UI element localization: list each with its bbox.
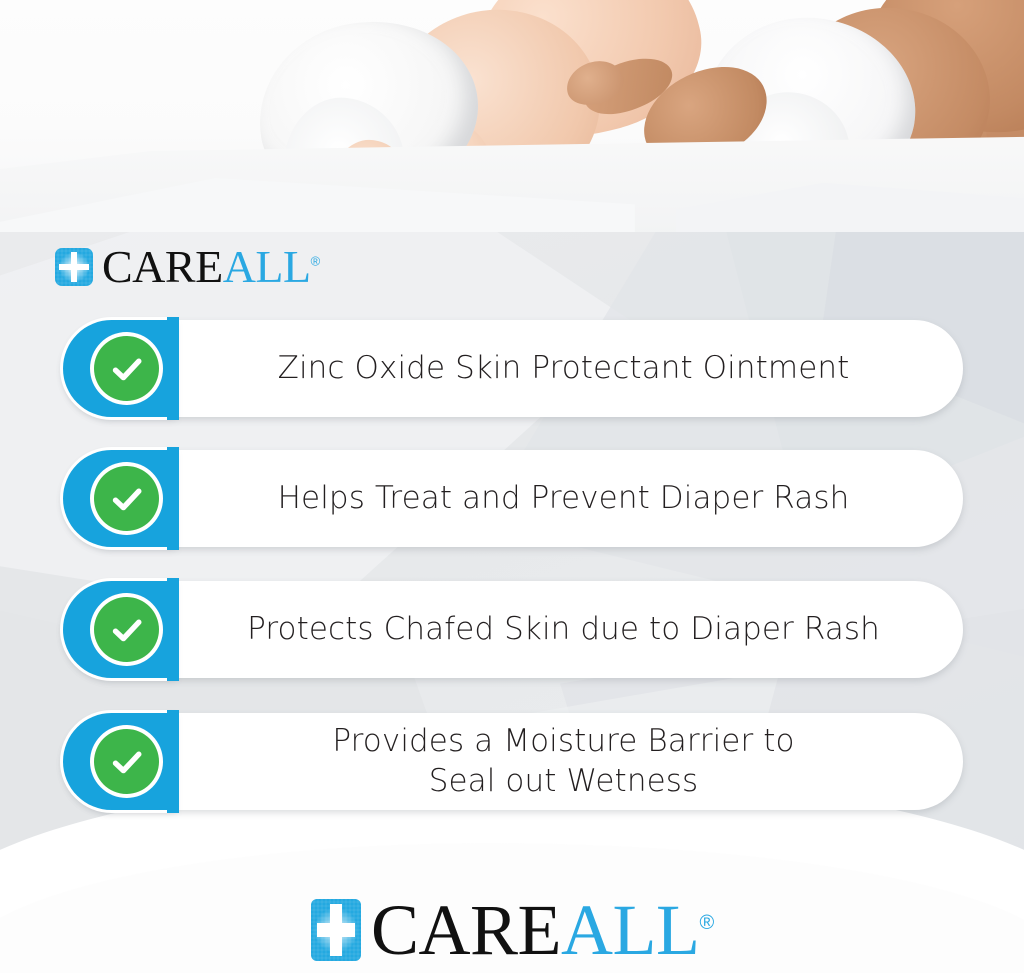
feature-list: Zinc Oxide Skin Protectant Ointment Help… [0, 0, 1024, 973]
brand-care-text: CARE [371, 890, 561, 970]
feature-text-line2: Seal out Wetness [332, 762, 794, 802]
brand-all-text: ALL [561, 890, 699, 970]
feature-text: Protects Chafed Skin due to Diaper Rash [176, 581, 963, 678]
check-circle-icon [94, 466, 159, 531]
brand-logo-bottom: CAREALL® [311, 894, 714, 966]
product-infographic: CAREALL® Zinc Oxide Skin Protectant Oint… [0, 0, 1024, 973]
feature-row[interactable]: Provides a Moisture Barrier toSeal out W… [63, 713, 963, 810]
feature-text-line1: Protects Chafed Skin due to Diaper Rash [247, 610, 880, 650]
registered-trademark-icon: ® [700, 912, 714, 934]
medical-cross-icon [311, 899, 361, 961]
feature-badge [63, 320, 176, 417]
feature-badge [63, 450, 176, 547]
brand-wordmark: CAREALL® [371, 894, 714, 966]
check-circle-icon [94, 597, 159, 662]
feature-text-line1: Helps Treat and Prevent Diaper Rash [278, 479, 850, 519]
feature-badge [63, 713, 176, 810]
feature-text-line1: Zinc Oxide Skin Protectant Ointment [278, 349, 850, 389]
check-circle-icon [94, 729, 159, 794]
feature-badge [63, 581, 176, 678]
check-circle-icon [94, 336, 159, 401]
feature-row[interactable]: Zinc Oxide Skin Protectant Ointment [63, 320, 963, 417]
feature-row[interactable]: Helps Treat and Prevent Diaper Rash [63, 450, 963, 547]
feature-row[interactable]: Protects Chafed Skin due to Diaper Rash [63, 581, 963, 678]
feature-text: Helps Treat and Prevent Diaper Rash [176, 450, 963, 547]
feature-text-line1: Provides a Moisture Barrier to [332, 722, 794, 762]
feature-text: Zinc Oxide Skin Protectant Ointment [176, 320, 963, 417]
feature-text: Provides a Moisture Barrier toSeal out W… [176, 713, 963, 810]
